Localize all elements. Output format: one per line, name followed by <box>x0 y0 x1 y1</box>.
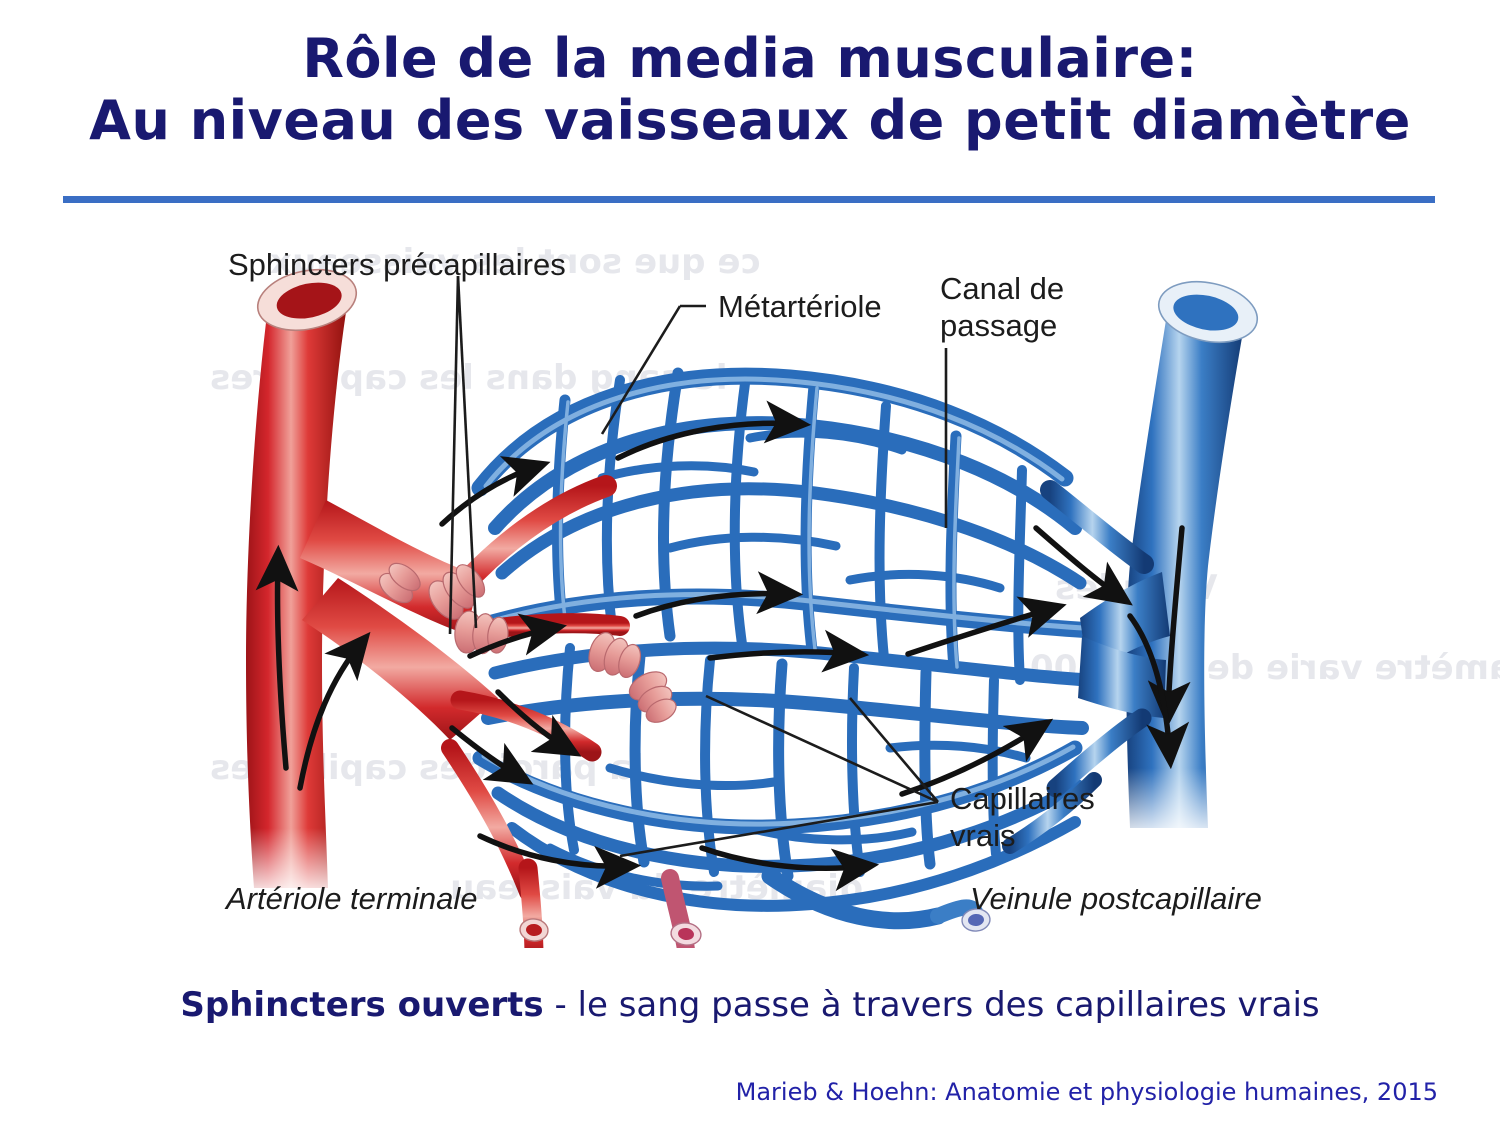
slide-caption: Sphincters ouverts - le sang passe à tra… <box>0 985 1500 1025</box>
label-canal-de-passage: Canal de passage <box>940 270 1064 344</box>
page-title: Rôle de la media musculaire: Au niveau d… <box>0 28 1500 152</box>
label-sphincters-precapillaires: Sphincters précapillaires <box>228 246 566 283</box>
leader-lines <box>450 276 946 856</box>
title-line-1: Rôle de la media musculaire: <box>0 28 1500 90</box>
label-metarteriole: Métartériole <box>718 288 882 325</box>
source-credit: Marieb & Hoehn: Anatomie et physiologie … <box>736 1078 1438 1106</box>
caption-bold: Sphincters ouverts <box>180 985 543 1025</box>
capillary-bed-figure: ce que sont les vaisseaux le sang dans l… <box>150 228 1360 948</box>
caption-rest: - le sang passe à travers des capillaire… <box>544 985 1320 1025</box>
label-arteriole-terminale: Artériole terminale <box>226 880 478 917</box>
vessel-illustration <box>150 228 1360 948</box>
title-line-2: Au niveau des vaisseaux de petit diamètr… <box>0 90 1500 152</box>
title-divider <box>63 196 1435 203</box>
label-veinule-postcapillaire: Veinule postcapillaire <box>970 880 1262 917</box>
label-capillaires-vrais: Capillaires vrais <box>950 780 1095 854</box>
